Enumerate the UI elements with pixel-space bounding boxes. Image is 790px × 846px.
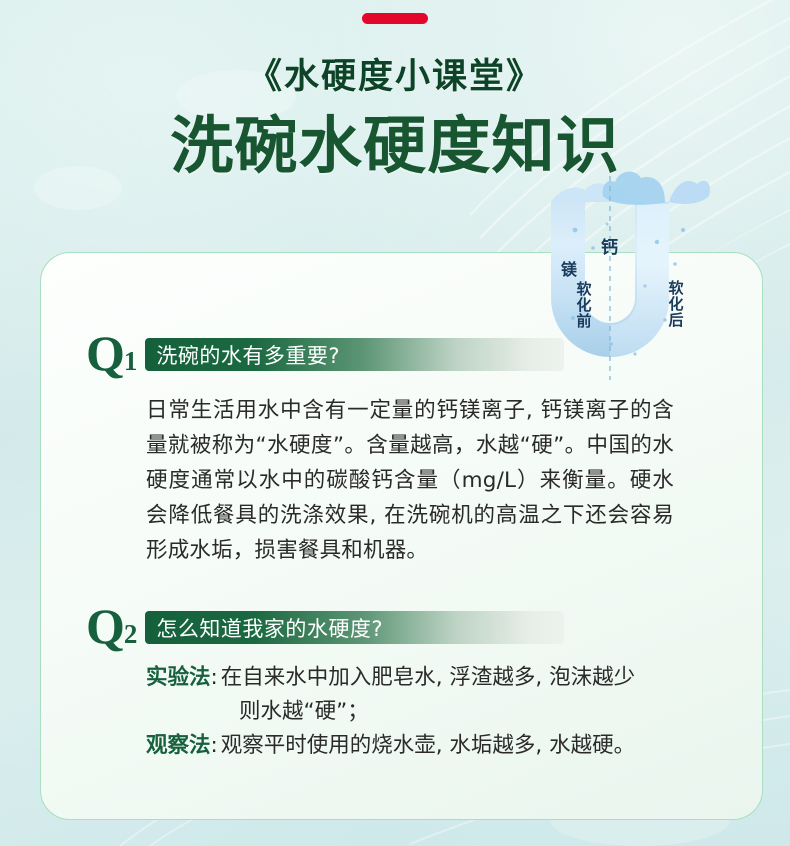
water-u-shape-svg	[515, 168, 750, 393]
q1-answer-paragraph: 日常生活用水中含有一定量的钙镁离子, 钙镁离子的含量就被称为“水硬度”。含量越高…	[146, 393, 674, 568]
label-before-softening: 软化前	[575, 282, 593, 329]
method-row: 观察法 : 观察平时使用的烧水壶, 水垢越多, 水越硬。	[146, 729, 706, 763]
method-row: 实验法 : 在自来水中加入肥皂水, 浮渣越多, 泡沫越少	[146, 661, 706, 695]
q2-question-text: 怎么知道我家的水硬度?	[145, 613, 383, 643]
q1-question-text: 洗碗的水有多重要?	[145, 340, 340, 370]
label-magnesium: 镁	[561, 262, 577, 279]
method-name: 观察法	[146, 729, 211, 763]
q1-heading: Q1 洗碗的水有多重要?	[86, 330, 564, 376]
q2-number: 2	[124, 619, 137, 649]
q2-heading: Q2 怎么知道我家的水硬度?	[86, 603, 564, 649]
method-colon: :	[211, 661, 221, 695]
water-splash-right	[603, 172, 669, 205]
water-splash-right-outer	[669, 181, 710, 204]
method-name: 实验法	[146, 661, 211, 695]
method-continuation: 则水越“硬”；	[146, 695, 706, 729]
method-text: 在自来水中加入肥皂水, 浮渣越多, 泡沫越少	[221, 661, 706, 695]
label-after-softening: 软化后	[667, 281, 685, 328]
q1-letter: Q	[86, 325, 124, 381]
method-colon: :	[211, 729, 221, 763]
label-calcium: 钙	[601, 240, 618, 258]
q2-marker: Q2	[86, 603, 136, 649]
u-shaped-water-graphic: 钙 镁 软化前 软化后	[515, 168, 750, 393]
q2-question-bar: 怎么知道我家的水硬度?	[145, 611, 564, 644]
q1-question-bar: 洗碗的水有多重要?	[145, 338, 564, 371]
q1-number: 1	[124, 346, 137, 376]
red-pill-divider	[362, 13, 428, 24]
page-subtitle: 《水硬度小课堂》	[0, 48, 790, 99]
q2-answer-methods: 实验法 : 在自来水中加入肥皂水, 浮渣越多, 泡沫越少 则水越“硬”； 观察法…	[146, 661, 706, 763]
method-text: 观察平时使用的烧水壶, 水垢越多, 水越硬。	[221, 729, 706, 763]
q2-letter: Q	[86, 598, 124, 654]
q1-marker: Q1	[86, 330, 136, 376]
